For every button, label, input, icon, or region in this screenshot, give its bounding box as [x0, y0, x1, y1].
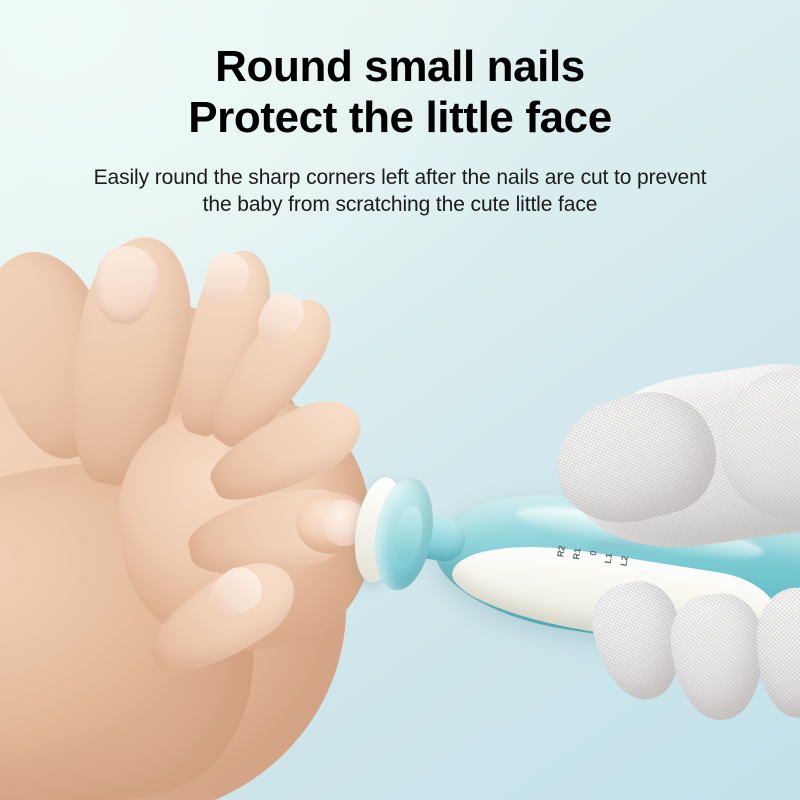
device-speed-label-r1: R1 — [572, 548, 583, 561]
subtitle-line-2: the baby from scratching the cute little… — [0, 191, 800, 218]
device-speed-label-l2: L2 — [620, 555, 631, 567]
promo-banner: R2 R1 0 L1 L2 Round small nails Protect … — [0, 0, 800, 800]
device-speed-label-r2: R2 — [556, 545, 567, 558]
headline-line-2: Protect the little face — [0, 91, 800, 142]
promo-text-block: Round small nails Protect the little fac… — [0, 0, 800, 218]
subtitle-line-1: Easily round the sharp corners left afte… — [0, 143, 800, 191]
gloved-finger-2 — [667, 590, 770, 724]
headline-line-1: Round small nails — [0, 0, 800, 91]
